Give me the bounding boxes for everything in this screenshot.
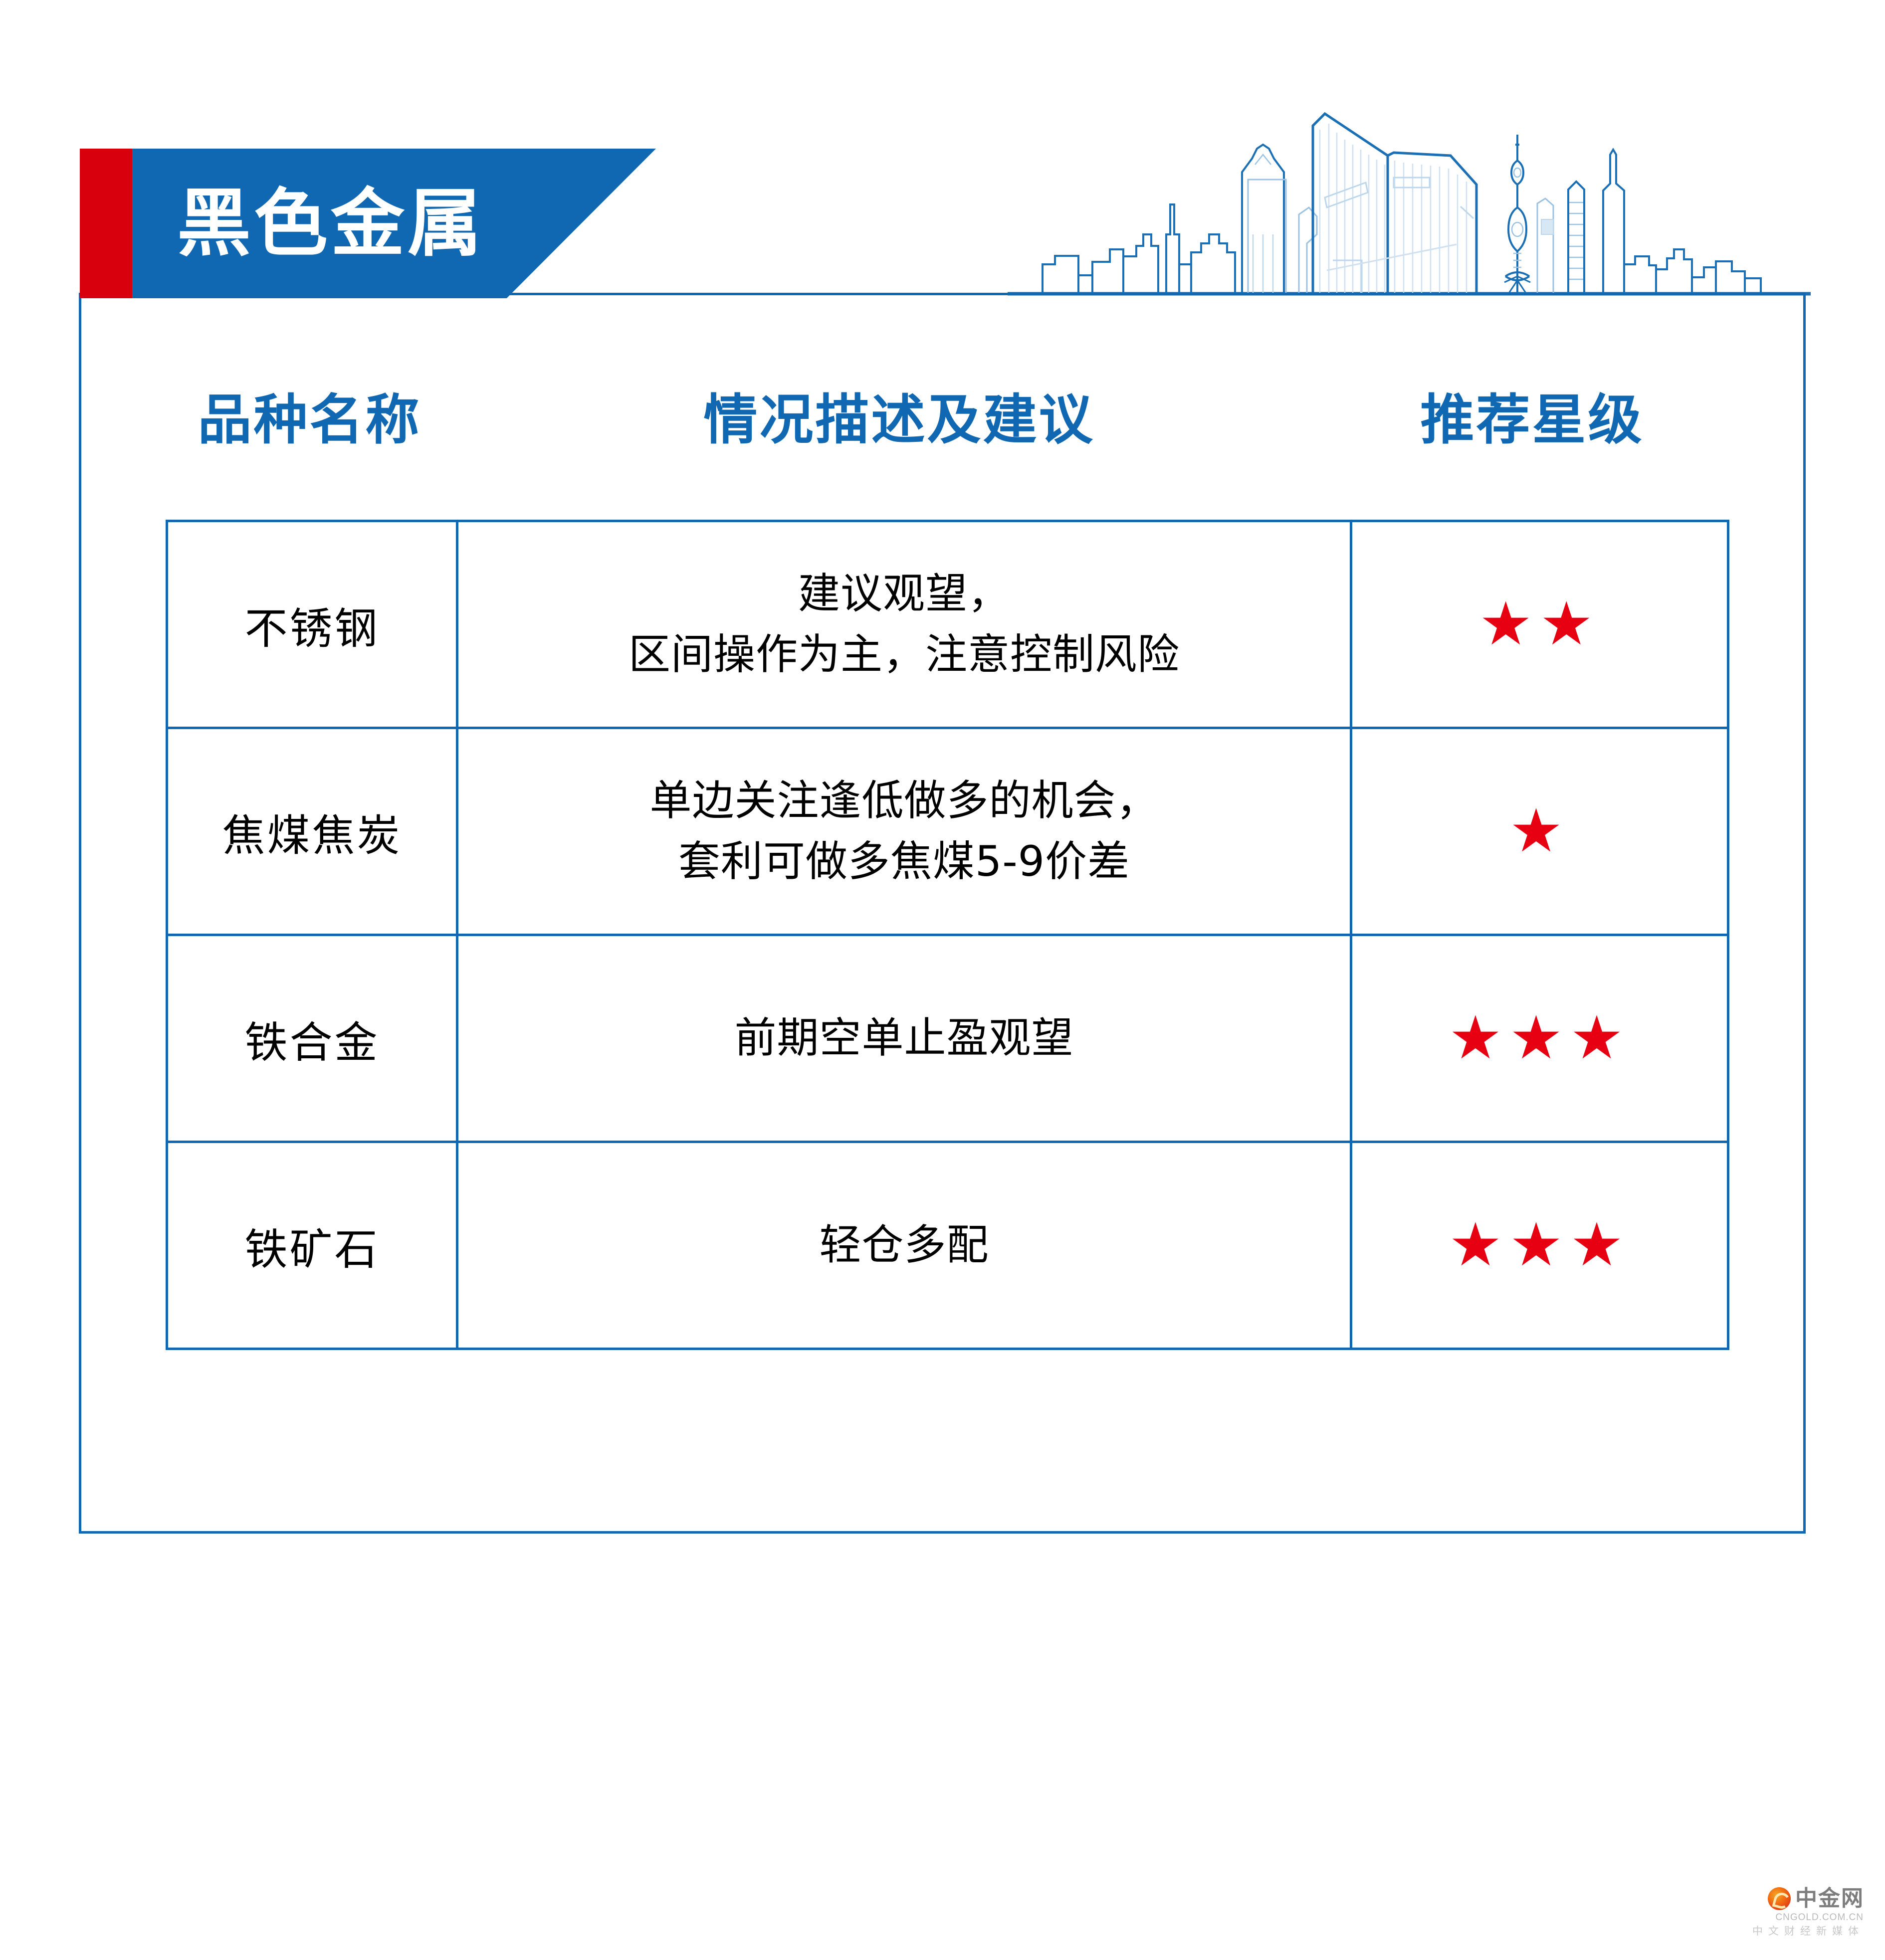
table-row: 焦煤焦炭 单边关注逢低做多的机会， 套利可做多焦煤5-9价差 ★ [167, 728, 1728, 935]
banner-red-bar [80, 149, 132, 298]
cngold-swirl-logo-icon [1768, 1887, 1791, 1910]
description-line: 单边关注逢低做多的机会， [458, 771, 1350, 831]
cell-variety-name: 铁矿石 [167, 1142, 457, 1349]
description-line: 套利可做多焦煤5-9价差 [458, 831, 1350, 892]
cell-variety-name: 铁合金 [167, 935, 457, 1142]
city-skyline-icon [1008, 85, 1811, 297]
watermark-slogan: 中文财经新媒体 [1752, 1925, 1864, 1938]
section-banner: 黑色金属 [80, 149, 656, 298]
cell-description: 建议观望， 区间操作为主，注意控制风险 [457, 521, 1351, 728]
table-row: 不锈钢 建议观望， 区间操作为主，注意控制风险 ★★ [167, 521, 1728, 728]
table-column-headers: 品种名称 情况描述及建议 推荐星级 [166, 358, 1719, 483]
description-line: 轻仓多配 [458, 1215, 1350, 1276]
cell-variety-name: 不锈钢 [167, 521, 457, 728]
page-title: 黑色金属 [177, 149, 484, 298]
cell-description: 单边关注逢低做多的机会， 套利可做多焦煤5-9价差 [457, 728, 1351, 935]
description-line: 区间操作为主，注意控制风险 [458, 624, 1350, 685]
site-watermark: 中金网 CNGOLD.COM.CN 中文财经新媒体 [1752, 1887, 1864, 1938]
column-header-description: 情况描述及建议 [453, 391, 1345, 450]
column-header-name: 品种名称 [166, 391, 453, 450]
cell-variety-name: 焦煤焦炭 [167, 728, 457, 935]
description-line: 建议观望， [458, 564, 1350, 624]
cell-star-rating: ★★★ [1351, 1142, 1728, 1349]
cell-star-rating: ★★ [1351, 521, 1728, 728]
watermark-site-name: 中金网 [1795, 1888, 1864, 1910]
cell-description: 轻仓多配 [457, 1142, 1351, 1349]
cell-star-rating: ★ [1351, 728, 1728, 935]
description-line: 前期空单止盈观望 [458, 1008, 1350, 1069]
table-row: 铁矿石 轻仓多配 ★★★ [167, 1142, 1728, 1349]
watermark-primary-row: 中金网 [1768, 1887, 1864, 1910]
cell-description: 前期空单止盈观望 [457, 935, 1351, 1142]
column-header-rating: 推荐星级 [1345, 391, 1719, 450]
table-row: 铁合金 前期空单止盈观望 ★★★ [167, 935, 1728, 1142]
recommendation-table: 不锈钢 建议观望， 区间操作为主，注意控制风险 ★★ 焦煤焦炭 单边关注逢低做多… [166, 520, 1729, 1350]
watermark-site-url: CNGOLD.COM.CN [1775, 1912, 1864, 1924]
cell-star-rating: ★★★ [1351, 935, 1728, 1142]
